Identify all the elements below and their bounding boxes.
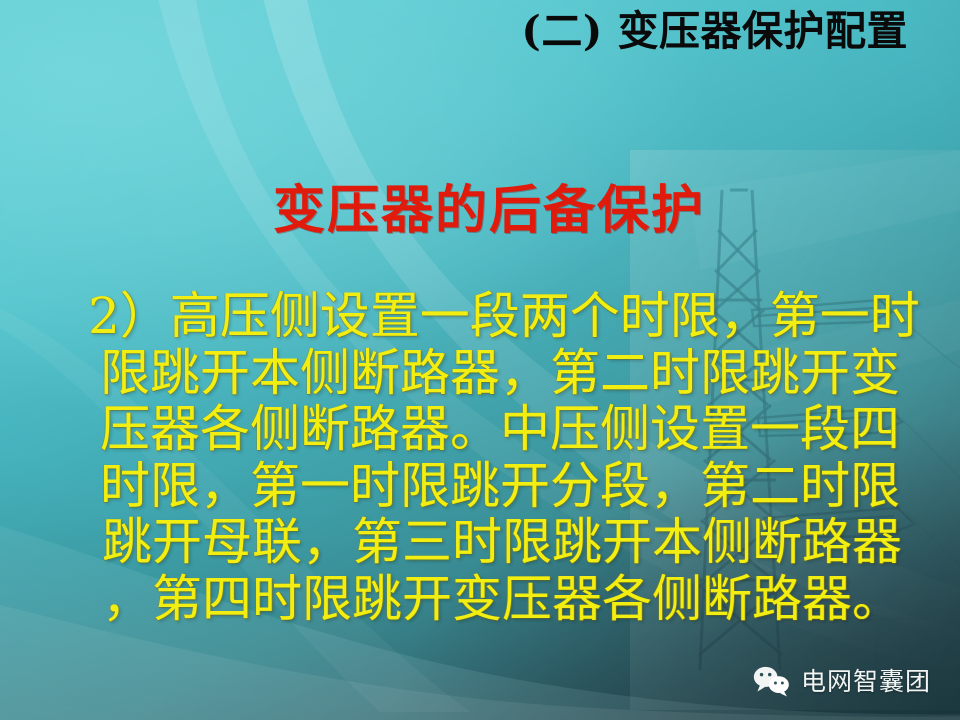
body-line: 限跳开本侧断路器，第二时限跳开变 (84, 345, 884, 402)
body-line: 压器各侧断路器。中压侧设置一段四 (84, 401, 884, 458)
body-line: ，第四时限跳开变压器各侧断路器。 (84, 571, 884, 628)
section-heading: 变压器的后备保护 (0, 182, 960, 239)
body-line: 时限，第一时限跳开分段，第二时限 (84, 458, 884, 515)
watermark-label: 电网智囊团 (801, 669, 931, 694)
body-line: 2）高压侧设置一段两个时限，第一时 (84, 288, 884, 345)
watermark: 电网智囊团 (752, 664, 931, 698)
slide-title: (二) 变压器保护配置 (521, 9, 908, 55)
wechat-icon (752, 664, 792, 698)
presentation-slide: (二) 变压器保护配置 变压器的后备保护 2）高压侧设置一段两个时限，第一时 限… (0, 0, 960, 720)
slide-body-text: 2）高压侧设置一段两个时限，第一时 限跳开本侧断路器，第二时限跳开变 压器各侧断… (84, 288, 884, 627)
body-line: 跳开母联，第三时限跳开本侧断路器 (84, 514, 884, 571)
